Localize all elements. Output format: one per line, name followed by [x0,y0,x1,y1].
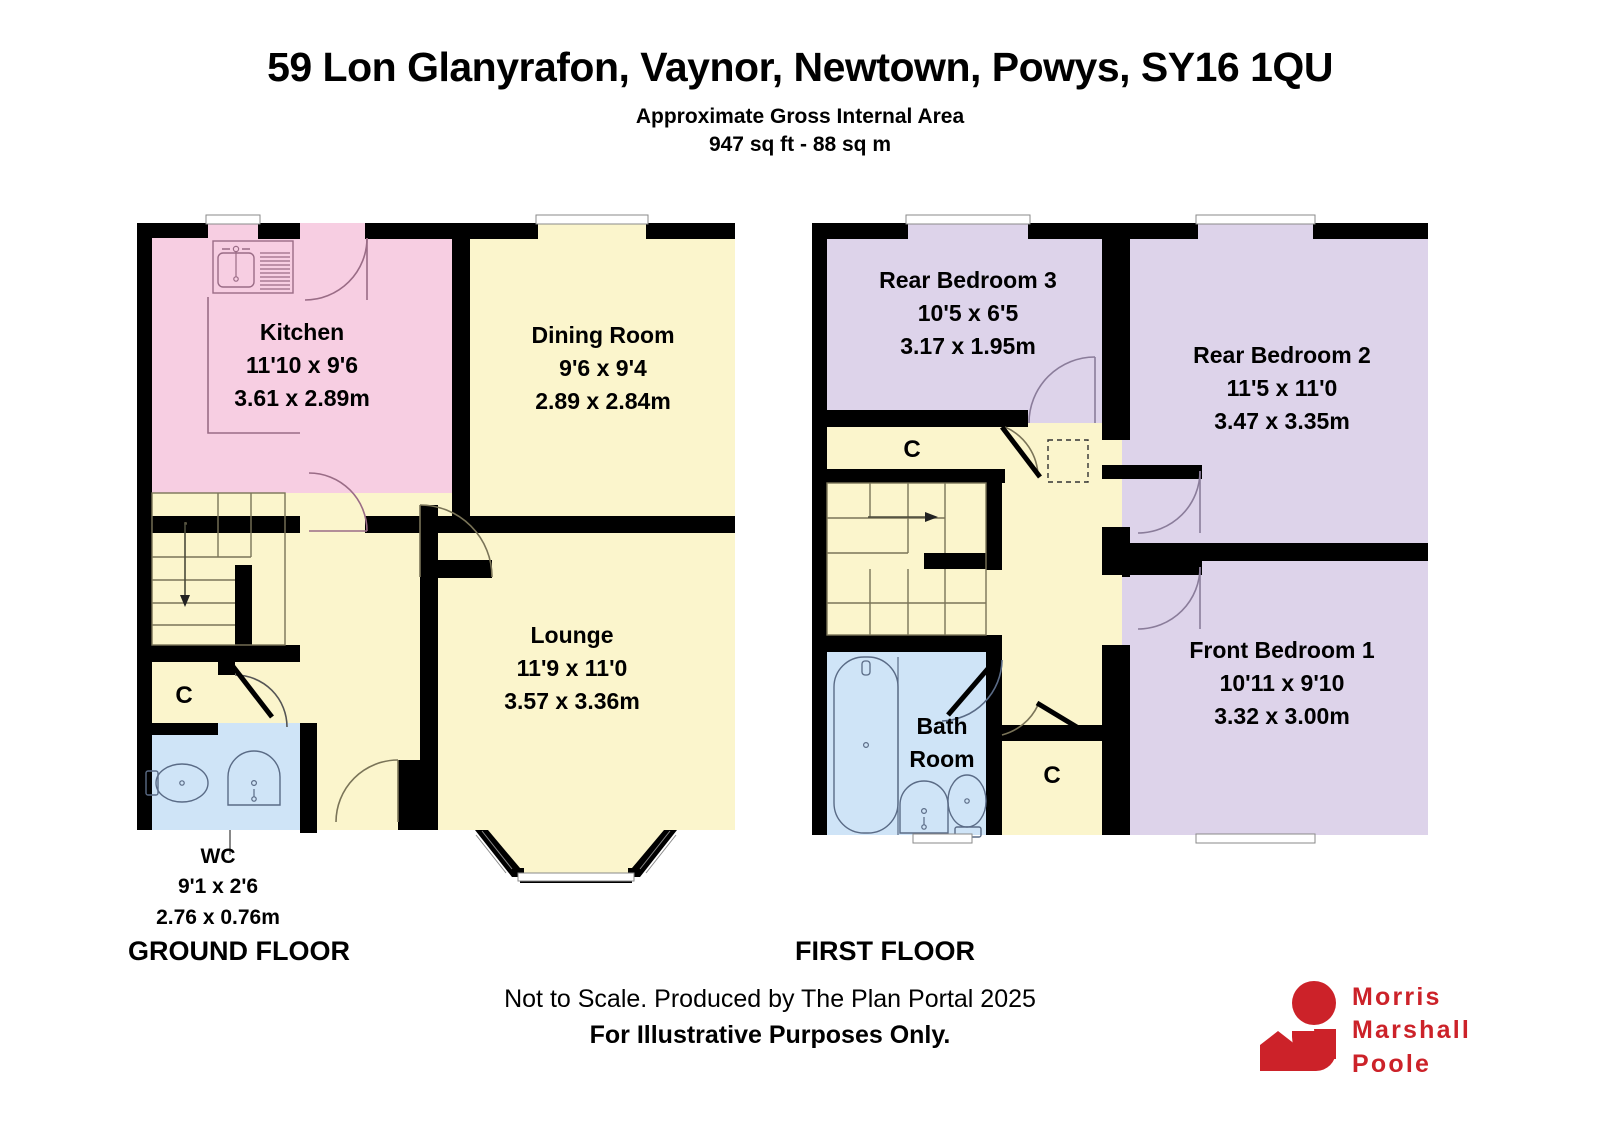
wall-stair-jog [924,553,1002,569]
wall-bed2-bed1 [1102,543,1428,561]
wc-imperial: 9'1 x 2'6 [118,872,318,902]
wall-lounge-left-bottom [398,760,438,830]
footer: Not to Scale. Produced by The Plan Porta… [300,985,1240,1050]
room-bed1-fill [1130,560,1428,835]
dining-window-reveal [538,223,646,239]
company-logo: Morris Marshall Poole [1252,975,1572,1085]
wall-cupboard-edge [218,645,235,675]
area-value: 947 sq ft - 88 sq m [0,133,1600,157]
kitchen-metric: 3.61 x 2.89m [234,385,370,411]
logo-wordmark: Morris Marshall Poole [1352,981,1471,1081]
wall-rear-dining-2 [646,223,735,239]
wall-rear-right-a [1130,223,1198,239]
lounge-metric: 3.57 x 3.36m [504,688,640,714]
wall-rear-mid [1028,223,1130,239]
wc-top-extension [218,723,313,737]
dining-metric: 2.89 x 2.84m [535,388,671,414]
kitchen-window-reveal [208,223,258,239]
bed1-imperial: 10'11 x 9'10 [1220,670,1345,696]
wc-label-block: WC 9'1 x 2'6 2.76 x 0.76m [118,842,318,933]
wall-rear-left [827,223,908,239]
floorplan-page: 59 Lon Glanyrafon, Vaynor, Newtown, Powy… [0,0,1600,1130]
kitchen-door-gap-top [300,223,365,238]
bed3-imperial: 10'5 x 6'5 [918,300,1019,326]
wall-rear-kitchen [258,223,300,239]
bed1-metric: 3.32 x 3.00m [1214,703,1350,729]
footer-disclaimer: Not to Scale. Produced by The Plan Porta… [300,985,1240,1014]
logo-line-3: Poole [1352,1048,1471,1081]
bed3-metric: 3.17 x 1.95m [900,333,1036,359]
wall-below-stairs [827,635,1002,652]
dining-imperial: 9'6 x 9'4 [559,355,647,381]
room-bed3-fill [827,238,1102,423]
wall-kitchen-dining-c [452,433,470,516]
bath-line2: Room [909,746,974,772]
first-floor-title: FIRST FLOOR [795,936,975,967]
logo-line-2: Marshall [1352,1014,1471,1047]
lounge-imperial: 11'9 x 11'0 [517,655,628,681]
bed2-name: Rear Bedroom 2 [1193,342,1371,368]
bed2-imperial: 11'5 x 11'0 [1227,375,1338,401]
wall-landing-right-e [1102,645,1130,835]
bed2-metric: 3.47 x 3.35m [1214,408,1350,434]
ground-floor-plan: Kitchen 11'10 x 9'6 3.61 x 2.89m Dining … [120,205,760,905]
logo-rounded-block [1296,1031,1336,1071]
bed3-name: Rear Bedroom 3 [879,267,1057,293]
footer-illustrative: For Illustrative Purposes Only. [300,1021,1240,1050]
logo-house-shape [1260,1031,1296,1071]
lounge-name: Lounge [530,622,613,648]
wall-cupboard-ff [827,469,1005,483]
logo-circle-shape [1292,981,1336,1025]
page-title: 59 Lon Glanyrafon, Vaynor, Newtown, Powy… [0,44,1600,91]
wall-lounge-left-jog [420,560,492,578]
cupboard-label-first-bottom: C [1043,762,1060,789]
wall-lounge-left-mid [420,577,438,777]
bed2-window-reveal [1198,223,1313,239]
wall-bath-right-b [986,745,1002,835]
bed1-name: Front Bedroom 1 [1189,637,1374,663]
kitchen-name: Kitchen [260,319,344,345]
bed1-window-reveal [1198,817,1313,835]
wall-kitchen-dining-b [452,350,470,410]
wall-landing-right-a [1102,428,1130,440]
wc-name: WC [118,842,318,872]
wall-bed3-bed2 [1102,238,1130,428]
header: 59 Lon Glanyrafon, Vaynor, Newtown, Powy… [0,0,1600,157]
wall-landing-right-b [1102,465,1202,479]
bath-line1: Bath [916,713,967,739]
wall-wc-right [300,723,317,833]
wall-kitchen-dining-a [452,238,470,328]
room-wc-fill [152,735,312,830]
logo-line-1: Morris [1352,981,1471,1014]
area-caption: Approximate Gross Internal Area [0,105,1600,129]
wc-metric: 2.76 x 0.76m [118,903,318,933]
bed3-window-reveal [908,223,1028,239]
wall-below-bed3 [812,410,1028,427]
ground-floor-title: GROUND FLOOR [128,936,350,967]
wall-rear-dining [452,223,538,239]
logo-mark-icon [1252,975,1348,1075]
lounge-bay-window [475,830,677,883]
wall-rear-kitchen-2 [365,223,452,239]
wall-landing-right-d [1102,561,1202,575]
wall-rear-right-b [1313,223,1428,239]
cupboard-label-first-top: C [903,436,920,463]
dining-name: Dining Room [531,322,674,348]
kitchen-imperial: 11'10 x 9'6 [246,352,358,378]
first-floor-plan: Rear Bedroom 3 10'5 x 6'5 3.17 x 1.95m R… [790,205,1440,865]
wall-landing-right-c [1102,527,1130,561]
cupboard-label-ground: C [175,682,192,709]
gf-windows [206,215,648,224]
